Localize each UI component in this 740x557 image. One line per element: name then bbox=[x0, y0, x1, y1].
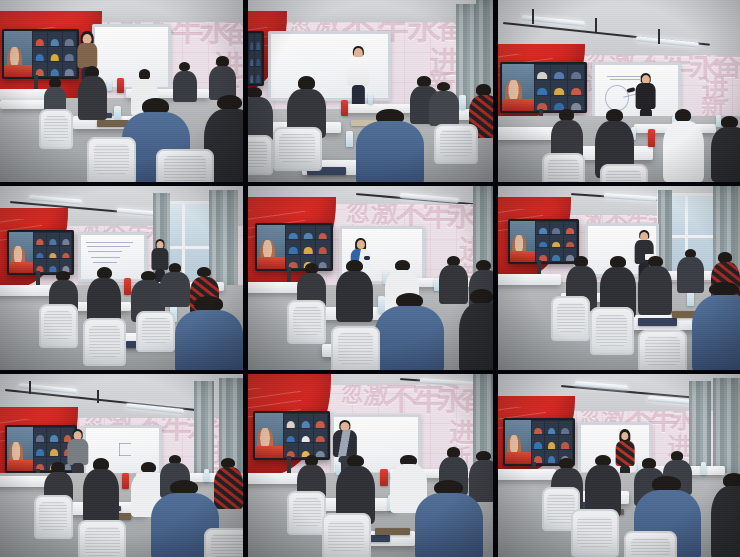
attendee bbox=[78, 66, 107, 121]
curtain bbox=[689, 381, 711, 473]
foreground-attendee-blue-sweater bbox=[692, 282, 740, 370]
photo-collage: 忽 激 不 牢 永 奋 记 党 进 新 bbox=[0, 0, 740, 557]
attendee bbox=[585, 455, 621, 517]
video-conference-screen bbox=[7, 230, 74, 274]
photo-cell-2[interactable]: 忽 激 不 牢 永 奋 记 党 进 新 代 bbox=[248, 0, 493, 182]
chair bbox=[434, 124, 478, 164]
curtain bbox=[713, 378, 740, 473]
attendee bbox=[429, 82, 458, 126]
attendee bbox=[711, 116, 740, 182]
chair bbox=[551, 296, 590, 340]
chair bbox=[571, 509, 619, 557]
photo-cell-9[interactable]: 忽 激 不 牢 永 记 进 bbox=[498, 374, 740, 557]
screen-main-speaker bbox=[4, 31, 32, 77]
desk bbox=[0, 100, 49, 109]
chair bbox=[39, 304, 78, 348]
desk bbox=[498, 469, 556, 480]
chair bbox=[638, 330, 686, 370]
presenter-male-white-shirt bbox=[346, 46, 371, 112]
attendee bbox=[638, 256, 672, 315]
chair bbox=[248, 135, 273, 175]
video-conference-screen bbox=[248, 31, 264, 86]
attendee bbox=[83, 458, 119, 524]
chair bbox=[78, 520, 127, 557]
photo-cell-8[interactable]: 忽 激 不 牢 永 奋 记 党 进 新 bbox=[248, 374, 493, 557]
video-conference-screen bbox=[253, 411, 331, 461]
photo-cell-6[interactable]: 激 不 牢 永 奋 记 党 bbox=[498, 186, 740, 370]
chair bbox=[39, 109, 73, 149]
chair bbox=[204, 528, 243, 557]
chair bbox=[156, 149, 214, 182]
foreground-attendee-blue-sweater bbox=[375, 293, 444, 370]
desk bbox=[248, 282, 302, 293]
desk bbox=[498, 127, 556, 140]
photo-cell-1[interactable]: 忽 激 不 牢 永 奋 记 党 进 新 bbox=[0, 0, 243, 182]
foreground-attendee bbox=[459, 289, 493, 370]
photo-cell-3[interactable]: 忽 激 不 牢 永 奋 记 进 新 bbox=[498, 0, 740, 182]
foreground-attendee-blue-sweater bbox=[415, 480, 484, 557]
chair bbox=[87, 137, 136, 183]
foreground-attendee-blue-sweater bbox=[175, 296, 243, 370]
video-conference-screen bbox=[2, 29, 79, 79]
chair bbox=[322, 513, 371, 557]
attendee bbox=[663, 109, 704, 182]
desk bbox=[498, 274, 561, 285]
chair bbox=[34, 495, 73, 539]
chair bbox=[590, 307, 634, 355]
chair bbox=[287, 300, 326, 344]
video-conference-screen bbox=[500, 62, 586, 113]
screen-participant-grid bbox=[32, 31, 77, 77]
chair bbox=[600, 164, 648, 182]
chair bbox=[83, 318, 127, 366]
photo-cell-4[interactable]: 激 不 牢 永 记 党 bbox=[0, 186, 243, 370]
chair bbox=[273, 127, 322, 171]
curtain bbox=[194, 381, 213, 476]
chair bbox=[624, 531, 677, 557]
chair bbox=[331, 326, 380, 370]
chair bbox=[287, 491, 326, 535]
photo-cell-5[interactable]: 忽 激 不 牢 永 奋 记 党 进 新 bbox=[248, 186, 493, 370]
desk bbox=[0, 285, 53, 296]
chair bbox=[542, 153, 586, 182]
attendee bbox=[173, 62, 197, 102]
attendee bbox=[209, 56, 236, 100]
foreground-attendee-blue-sweater bbox=[356, 109, 425, 182]
whiteboard bbox=[268, 31, 392, 101]
chair bbox=[136, 311, 175, 351]
attendee bbox=[336, 260, 373, 323]
photo-cell-7[interactable]: 忽 激 不 牢 永 奋 记 进 新 bbox=[0, 374, 243, 557]
foreground-attendee bbox=[711, 473, 740, 557]
